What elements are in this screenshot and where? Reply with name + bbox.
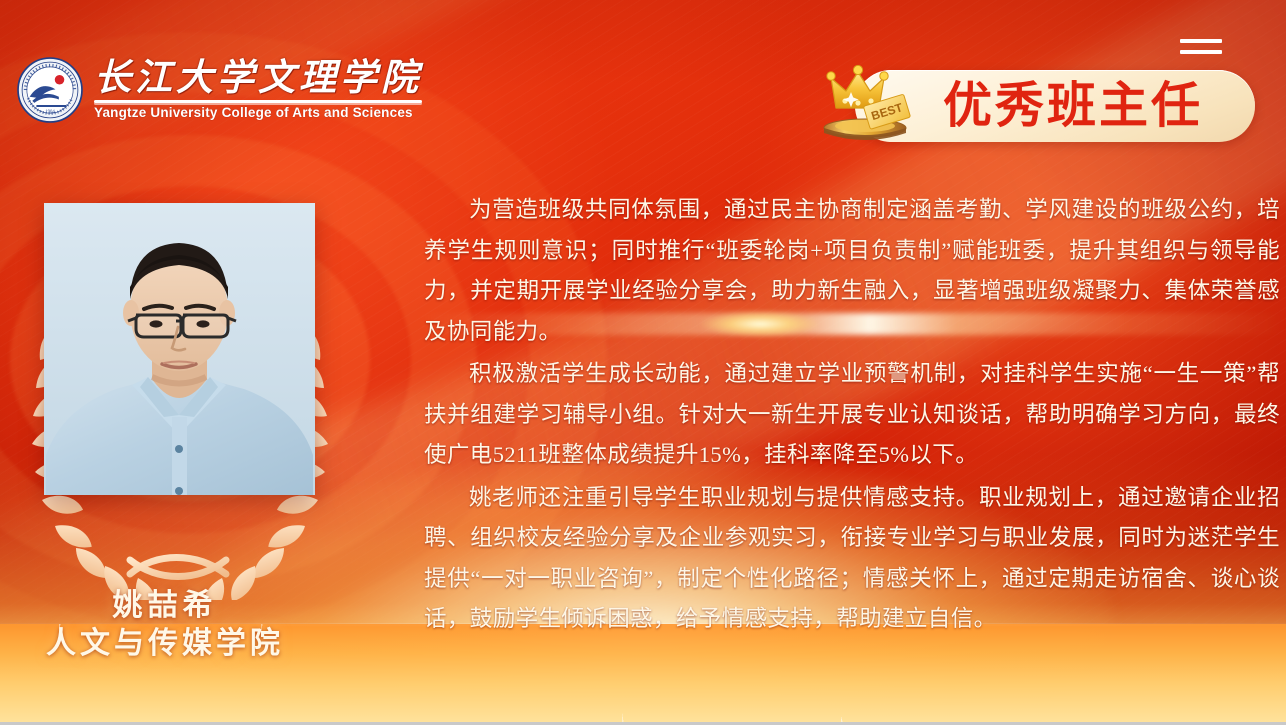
logo-wordmark: 长江大学文理学院 Yangtze University College of A…	[94, 60, 422, 121]
award-poster: 1904 长江大学文理学院 Yangtze University College…	[0, 0, 1286, 725]
logo-divider	[94, 100, 422, 103]
menu-bar-1	[1180, 39, 1222, 43]
logo-name-en: Yangtze University College of Arts and S…	[94, 105, 422, 120]
paragraph-1: 为营造班级共同体氛围，通过民主协商制定涵盖考勤、学风建设的班级公约，培养学生规则…	[424, 190, 1280, 352]
logo-name-cn: 长江大学文理学院	[94, 60, 422, 99]
university-logo[interactable]: 1904 长江大学文理学院 Yangtze University College…	[16, 56, 422, 124]
svg-text:1904: 1904	[45, 110, 55, 115]
achievement-text: 为营造班级共同体氛围，通过民主协商制定涵盖考勤、学风建设的班级公约，培养学生规则…	[424, 190, 1280, 642]
award-title-text: 优秀班主任	[943, 81, 1203, 130]
university-seal-icon: 1904	[16, 56, 84, 124]
hamburger-menu-icon[interactable]	[1180, 34, 1222, 58]
portrait-photo	[44, 203, 315, 495]
award-title-banner: 优秀班主任	[855, 70, 1255, 142]
paragraph-2: 积极激活学生成长动能，通过建立学业预警机制，对挂科学生实施“一生一策”帮扶并组建…	[424, 354, 1280, 476]
person-department: 人文与传媒学院	[0, 618, 330, 662]
menu-bar-2	[1180, 50, 1222, 54]
paragraph-3: 姚老师还注重引导学生职业规划与提供情感支持。职业规划上，通过邀请企业招聘、组织校…	[424, 478, 1280, 640]
